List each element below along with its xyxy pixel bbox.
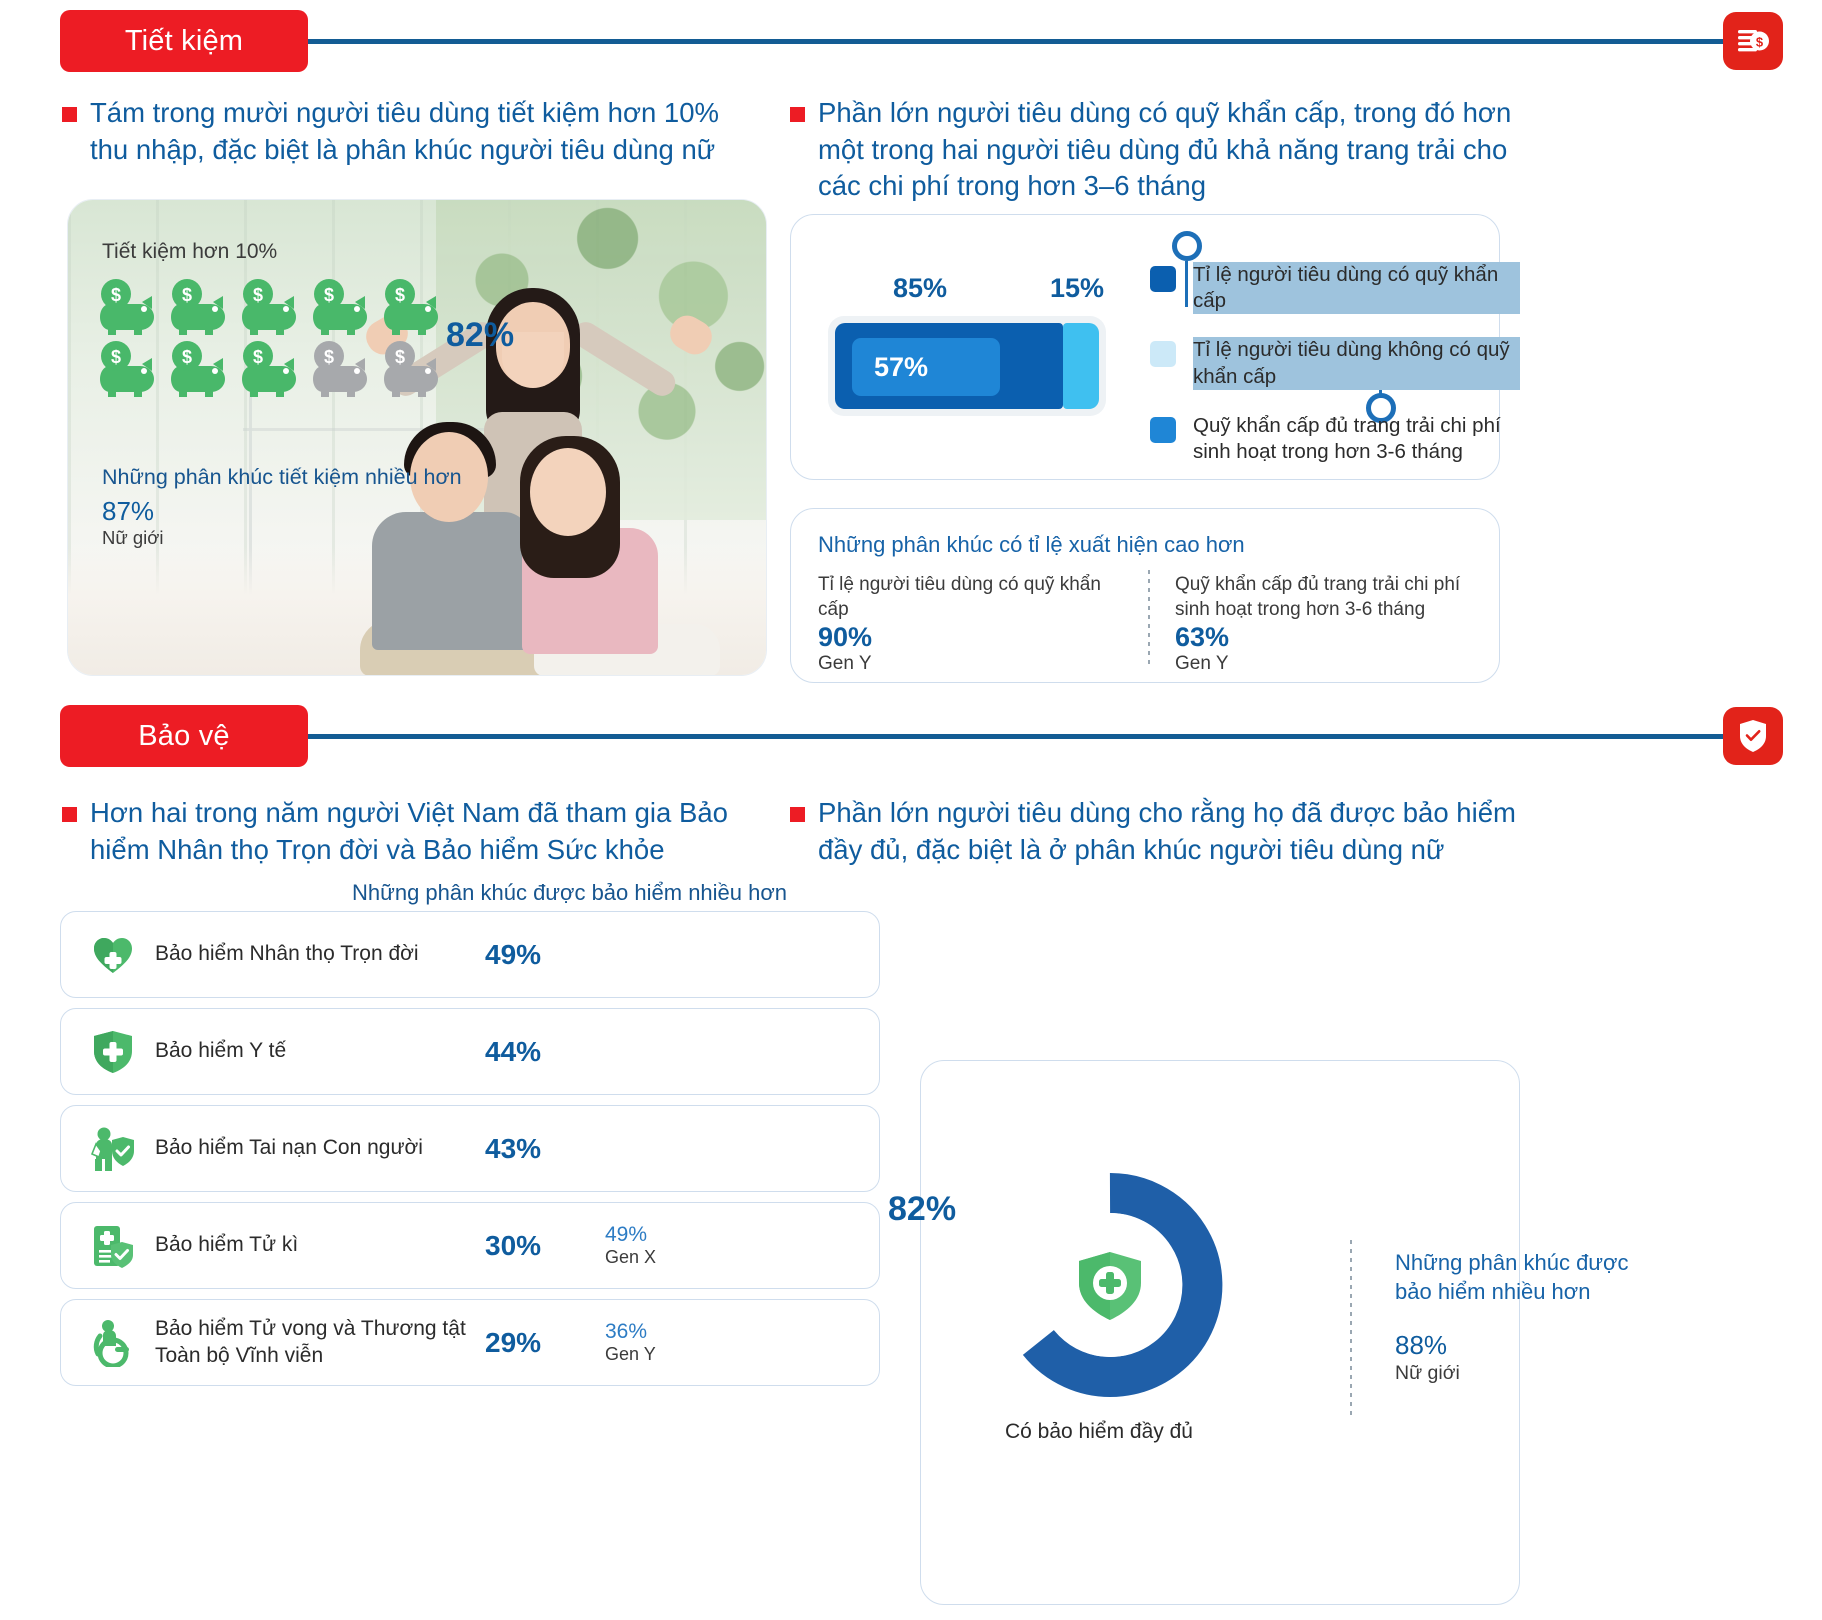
- savings-segment-value: 87%: [102, 496, 154, 527]
- bar-segment-covers-3-6-months: 57%: [852, 338, 1000, 396]
- insurance-label: Bảo hiểm Y tế: [155, 1038, 485, 1065]
- bar-label-85: 85%: [893, 273, 947, 304]
- savings-segment-title: Những phân khúc tiết kiệm nhiều hơn: [102, 465, 462, 490]
- document-shield-icon: [83, 1223, 143, 1269]
- heading-text: Phần lớn người tiêu dùng có quỹ khẩn cấp…: [818, 95, 1520, 205]
- piggy-bank-icon: $: [169, 340, 231, 398]
- insurance-percentage: 29%: [485, 1327, 605, 1359]
- emergency-fund-legend: Tỉ lệ người tiêu dùng có quỹ khẩn cấp Tỉ…: [1150, 262, 1520, 488]
- insurance-percentage: 30%: [485, 1230, 605, 1262]
- legend-item: Quỹ khẩn cấp đủ trang trải chi phí sinh …: [1150, 413, 1520, 465]
- svg-text:$: $: [253, 285, 263, 305]
- donut-percentage-label: 82%: [888, 1190, 956, 1229]
- piggy-bank-icon-gray: $: [311, 340, 373, 398]
- insurance-row[interactable]: Bảo hiểm Tử vong và Thương tật Toàn bộ V…: [60, 1299, 880, 1386]
- piggy-bank-icon: $: [98, 278, 160, 336]
- segment-col-2-sub: Gen Y: [1175, 653, 1229, 675]
- insurance-list-header: Những phân khúc được bảo hiểm nhiều hơn: [352, 880, 787, 906]
- wheelchair-icon: [83, 1319, 143, 1367]
- insurance-row[interactable]: Bảo hiểm Tai nạn Con người 43%: [60, 1105, 880, 1192]
- svg-text:$: $: [182, 285, 192, 305]
- bullet-square-icon: [790, 107, 805, 122]
- piggy-row-1: $ $ $ $ $: [98, 278, 458, 336]
- savings-percentage: 82%: [446, 316, 514, 355]
- donut-side-divider: [1350, 1240, 1352, 1415]
- injured-person-icon: [83, 1126, 143, 1172]
- insurance-label: Bảo hiểm Tử kì: [155, 1232, 485, 1259]
- insurance-row[interactable]: Bảo hiểm Nhân thọ Trọn đời 49%: [60, 911, 880, 998]
- piggy-bank-pictogram: $ $ $ $ $ $ $ $ $ $: [98, 278, 458, 398]
- svg-text:$: $: [395, 285, 405, 305]
- donut-caption: Có bảo hiểm đầy đủ: [1005, 1420, 1193, 1444]
- piggy-bank-icon: $: [98, 340, 160, 398]
- legend-label: Tỉ lệ người tiêu dùng không có quỹ khẩn …: [1193, 337, 1520, 389]
- emergency-fund-bar: 57%: [828, 316, 1106, 416]
- heading-text: Hơn hai trong năm người Việt Nam đã tham…: [90, 795, 762, 868]
- photo-label: Tiết kiệm hơn 10%: [102, 240, 277, 264]
- bar-label-15: 15%: [1050, 273, 1104, 304]
- legend-label: Tỉ lệ người tiêu dùng có quỹ khẩn cấp: [1193, 262, 1520, 314]
- segments-divider: [1148, 570, 1150, 668]
- bullet-square-icon: [62, 107, 77, 122]
- legend-label: Quỹ khẩn cấp đủ trang trải chi phí sinh …: [1193, 413, 1520, 465]
- insurance-gen-value: 49%Gen X: [605, 1222, 656, 1270]
- section-tag-label: Bảo vệ: [138, 720, 230, 753]
- money-stack-icon: $: [1723, 12, 1783, 70]
- insurance-percentage: 49%: [485, 939, 605, 971]
- bar-inner-value: 57%: [874, 352, 928, 383]
- insurance-label: Bảo hiểm Tai nạn Con người: [155, 1135, 485, 1162]
- legend-item: Tỉ lệ người tiêu dùng có quỹ khẩn cấp: [1150, 262, 1520, 314]
- photo-overlay: Tiết kiệm hơn 10% $ $ $ $ $ $ $ $ $ $ 82…: [68, 200, 766, 675]
- connector-circle-top: [1172, 231, 1202, 261]
- insurance-label: Bảo hiểm Nhân thọ Trọn đời: [155, 941, 485, 968]
- piggy-bank-icon: $: [311, 278, 373, 336]
- donut-svg: [995, 1170, 1225, 1400]
- shield-check-icon-svg: [1739, 719, 1767, 753]
- svg-text:$: $: [1756, 34, 1764, 49]
- section-tag-protection: Bảo vệ: [60, 705, 308, 767]
- segment-col-2-label: Quỹ khẩn cấp đủ trang trải chi phí sinh …: [1175, 573, 1485, 622]
- piggy-bank-icon: $: [240, 278, 302, 336]
- svg-text:$: $: [324, 285, 334, 305]
- svg-text:$: $: [324, 347, 334, 367]
- section-rule: [308, 39, 1745, 44]
- segment-col-1-sub: Gen Y: [818, 653, 872, 675]
- savings-segment-sub: Nữ giới: [102, 527, 164, 549]
- legend-swatch-covers-3-6-months: [1150, 417, 1176, 443]
- donut-side-sub: Nữ giới: [1395, 1362, 1460, 1385]
- heading-text: Phần lớn người tiêu dùng cho rằng họ đã …: [818, 795, 1520, 868]
- insurance-label: Bảo hiểm Tử vong và Thương tật Toàn bộ V…: [155, 1316, 485, 1370]
- infographic-page: Tiết kiệm $ Tám trong mười người tiêu dù…: [0, 0, 1822, 1620]
- donut-side-value: 88%: [1395, 1330, 1447, 1361]
- bullet-square-icon: [790, 807, 805, 822]
- heading-text: Tám trong mười người tiêu dùng tiết kiệm…: [90, 95, 762, 168]
- svg-text:$: $: [253, 347, 263, 367]
- coverage-donut-chart: [995, 1170, 1225, 1400]
- svg-text:$: $: [111, 285, 121, 305]
- protection-right-heading: Phần lớn người tiêu dùng cho rằng họ đã …: [790, 795, 1520, 868]
- savings-photo-card: Tiết kiệm hơn 10% $ $ $ $ $ $ $ $ $ $ 82…: [67, 199, 767, 676]
- insurance-percentage: 44%: [485, 1036, 605, 1068]
- insurance-percentage: 43%: [485, 1133, 605, 1165]
- piggy-row-2: $ $ $ $ $: [98, 340, 458, 398]
- savings-right-heading: Phần lớn người tiêu dùng có quỹ khẩn cấp…: [790, 95, 1520, 205]
- section-tag-label: Tiết kiệm: [125, 25, 243, 58]
- segment-col-1-value: 90%: [818, 622, 872, 653]
- piggy-bank-icon-gray: $: [382, 340, 444, 398]
- insurance-gen-value: 36%Gen Y: [605, 1319, 656, 1367]
- svg-text:$: $: [111, 347, 121, 367]
- svg-text:$: $: [395, 347, 405, 367]
- legend-item: Tỉ lệ người tiêu dùng không có quỹ khẩn …: [1150, 337, 1520, 389]
- bullet-square-icon: [62, 807, 77, 822]
- bar-segment-no-fund: [1063, 323, 1099, 409]
- piggy-bank-icon: $: [382, 278, 444, 336]
- section-rule: [308, 734, 1745, 739]
- insurance-row[interactable]: Bảo hiểm Tử kì 30% 49%Gen X: [60, 1202, 880, 1289]
- legend-swatch-no-fund: [1150, 341, 1176, 367]
- donut-side-title: Những phân khúc được bảo hiểm nhiều hơn: [1395, 1248, 1655, 1306]
- segment-col-1-label: Tỉ lệ người tiêu dùng có quỹ khẩn cấp: [818, 573, 1118, 622]
- piggy-bank-icon: $: [169, 278, 231, 336]
- heart-plus-icon: [83, 933, 143, 977]
- segments-card-title: Những phân khúc có tỉ lệ xuất hiện cao h…: [818, 532, 1245, 558]
- protection-left-heading: Hơn hai trong năm người Việt Nam đã tham…: [62, 795, 762, 868]
- shield-check-icon: [1723, 707, 1783, 765]
- shield-plus-icon: [83, 1029, 143, 1075]
- insurance-row[interactable]: Bảo hiểm Y tế 44%: [60, 1008, 880, 1095]
- segment-col-2-value: 63%: [1175, 622, 1229, 653]
- svg-text:$: $: [182, 347, 192, 367]
- savings-left-heading: Tám trong mười người tiêu dùng tiết kiệm…: [62, 95, 762, 168]
- money-stack-icon-svg: $: [1736, 25, 1770, 57]
- legend-swatch-has-fund: [1150, 266, 1176, 292]
- piggy-bank-icon: $: [240, 340, 302, 398]
- section-tag-savings: Tiết kiệm: [60, 10, 308, 72]
